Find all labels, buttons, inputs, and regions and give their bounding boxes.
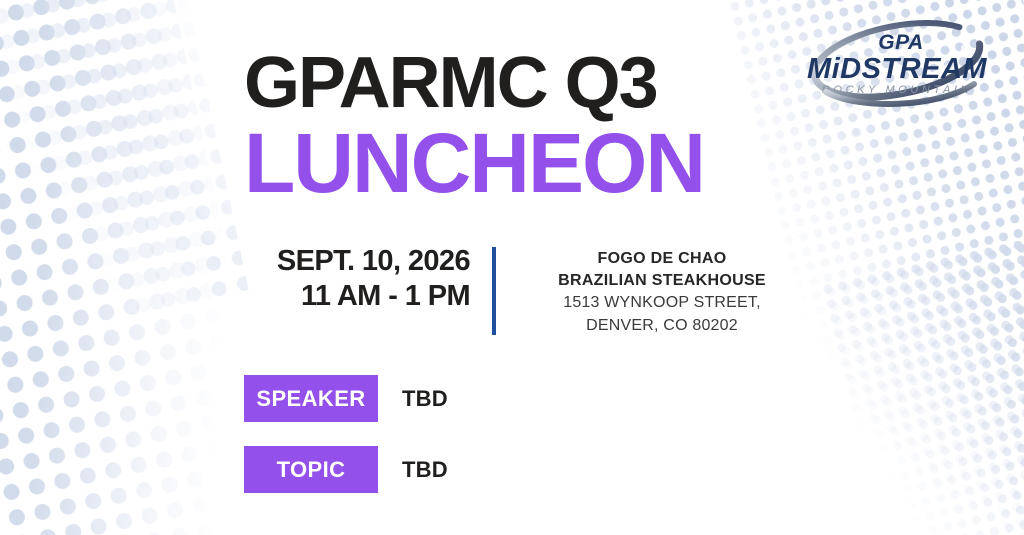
event-time: 11 AM - 1 PM <box>244 279 470 314</box>
topic-value: TBD <box>402 457 448 483</box>
logo-gpa-text: GPA <box>878 31 923 54</box>
topic-badge: TOPIC <box>244 446 378 493</box>
topic-row: TOPIC TBD <box>244 446 448 493</box>
headline-line-1: GPARMC Q3 <box>244 48 864 119</box>
headline-line-2: LUNCHEON <box>244 121 864 205</box>
halftone-pattern-left-fine <box>0 0 251 351</box>
venue-name-line-2: BRAZILIAN STEAKHOUSE <box>520 270 804 292</box>
event-flyer: GPA MiDSTREAM ROCKY MOUNTAIN GPARMC Q3 L… <box>0 0 1024 535</box>
date-time-block: SEPT. 10, 2026 11 AM - 1 PM <box>244 244 492 315</box>
headline: GPARMC Q3 LUNCHEON <box>244 48 864 205</box>
speaker-row: SPEAKER TBD <box>244 375 448 422</box>
venue-address-line-1: 1513 WYNKOOP STREET, <box>520 292 804 314</box>
speaker-badge: SPEAKER <box>244 375 378 422</box>
event-details: SEPT. 10, 2026 11 AM - 1 PM FOGO DE CHAO… <box>244 244 804 336</box>
venue-block: FOGO DE CHAO BRAZILIAN STEAKHOUSE 1513 W… <box>496 244 804 336</box>
halftone-pattern-right-lower <box>819 225 1024 535</box>
venue-address-line-2: DENVER, CO 80202 <box>520 315 804 337</box>
venue-name-line-1: FOGO DE CHAO <box>520 248 804 270</box>
info-rows: SPEAKER TBD TOPIC TBD <box>244 375 448 517</box>
speaker-value: TBD <box>402 386 448 412</box>
event-date: SEPT. 10, 2026 <box>244 244 470 279</box>
